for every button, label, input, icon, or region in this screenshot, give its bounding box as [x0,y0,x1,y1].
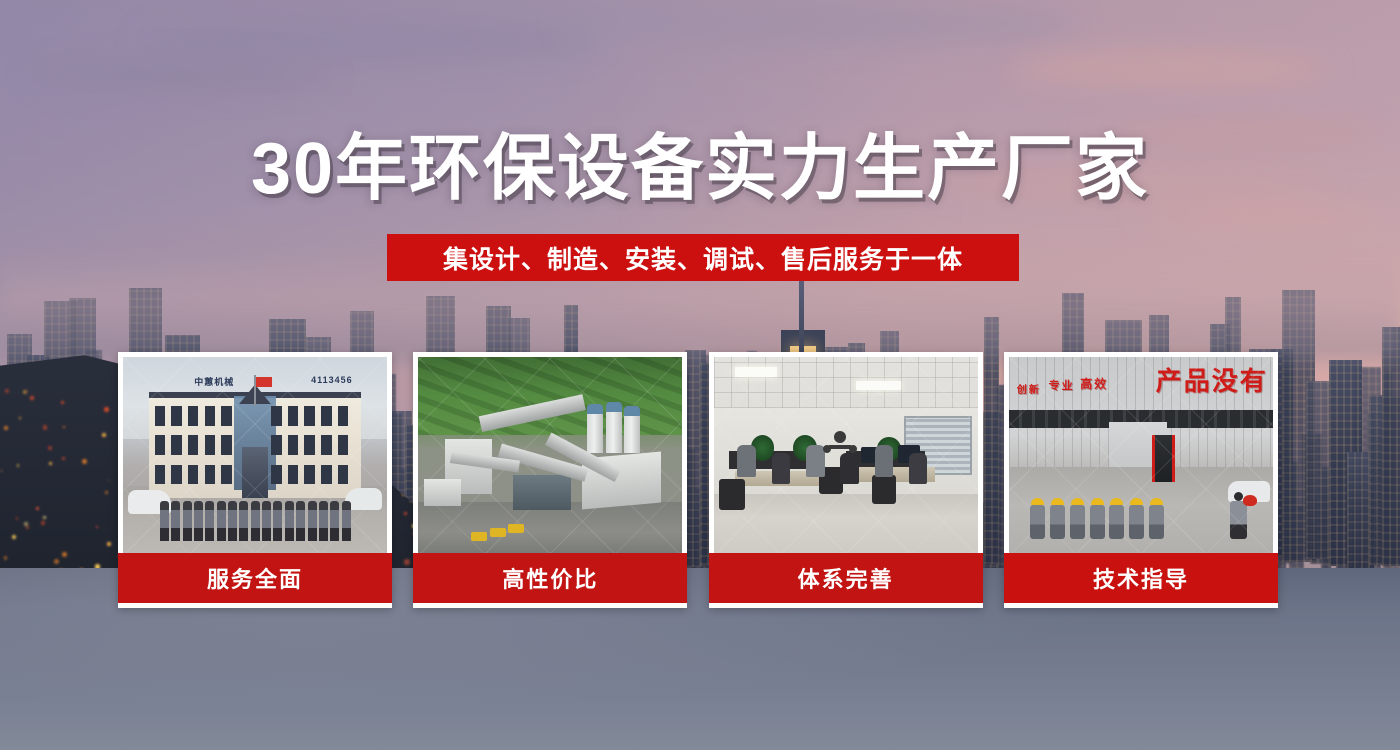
riverbank-light [43,425,47,429]
staff-figure [228,501,237,541]
card-caption: 技术指导 [1004,553,1278,603]
staff-figure [183,501,192,541]
staff-figure [217,501,226,541]
safety-helmet-icon [1051,498,1064,505]
safety-helmet-icon [1130,498,1143,505]
riverbank-light [49,462,52,465]
staff-figure [319,501,328,541]
company-headquarters-photo: 中蕙机械 4113456 [123,357,387,553]
plant-structure [624,412,640,453]
building-window [288,465,299,485]
plant-structure [624,406,640,416]
building-window [188,465,199,485]
office-worker [909,453,927,484]
staff-figure [262,501,271,541]
aerial-factory-photo [418,357,682,553]
excavator [508,524,524,533]
worker-figure [1030,498,1045,539]
worker-figure [1090,498,1105,539]
riverbank-light [61,401,64,404]
staff-figure [194,501,203,541]
building-window [321,406,332,426]
staff-figure [160,501,169,541]
riverbank-light [16,517,19,520]
riverbank-light [30,396,34,400]
building-window [321,465,332,485]
building-window [271,435,282,455]
office-worker [772,453,790,484]
card-caption: 高性价比 [413,553,687,603]
excavator [490,528,506,537]
riverbank-light [17,464,20,467]
riverbank-light [19,417,21,419]
feature-card[interactable]: 体系完善 [709,352,983,608]
skyline-building [1382,327,1400,566]
riverbank-light [1,470,3,472]
staff-figure [308,501,317,541]
building-window [171,435,182,455]
building-window [321,435,332,455]
riverbank-light [63,426,65,428]
riverbank-light [62,457,65,460]
staff-figure [205,501,214,541]
office-furnishing [735,367,777,377]
building-window [188,435,199,455]
worker-figure [1149,498,1164,539]
riverbank-light [12,535,16,539]
office-worker [875,445,893,476]
page-title: 30年环保设备实力生产厂家 [0,133,1400,205]
factory-slogan-text: 专业 [1049,377,1075,393]
office-interior-photo [714,357,978,553]
building-window [205,435,216,455]
worker-figure [1129,498,1144,539]
riverbank-light [36,507,39,510]
building-window [288,406,299,426]
riverbank-light [4,556,8,560]
building-window [205,465,216,485]
building-window [188,406,199,426]
riverbank-light [104,407,109,412]
skyline-building [1306,381,1330,559]
building-window [338,435,349,455]
plant-structure [424,479,461,506]
safety-helmet-icon [1031,498,1044,505]
building-window [205,406,216,426]
building-phone-text: 4113456 [311,375,353,385]
building-sign-text: 中蕙机械 [194,375,234,388]
staff-figure [296,501,305,541]
office-furnishing [856,381,901,391]
worker-figure [1050,498,1065,539]
card-caption: 服务全面 [118,553,392,603]
building-window [221,406,232,426]
building-window [288,435,299,455]
office-worker [737,445,755,476]
safety-helmet-icon [1150,498,1163,505]
worker-figure [1109,498,1124,539]
building-window [304,435,315,455]
subtitle-bar: 集设计、制造、安装、调试、售后服务于一体 [387,234,1019,281]
safety-helmet-icon [1110,498,1123,505]
building-window [221,435,232,455]
subtitle-text: 集设计、制造、安装、调试、售后服务于一体 [443,240,963,276]
building-window [338,406,349,426]
riverbank-light [96,526,98,528]
factory-sign-text: 产品没有 [1156,361,1268,398]
building-window [155,465,166,485]
office-furnishing [872,475,896,504]
promo-banner: 30年环保设备实力生产厂家 集设计、制造、安装、调试、售后服务于一体 中蕙机械 … [0,0,1400,750]
building-window [171,406,182,426]
wall-decal-icon [819,424,861,458]
building-window [155,435,166,455]
riverbank-light [62,552,67,557]
office-furnishing [719,479,745,510]
feature-card[interactable]: 中蕙机械 4113456 服务全面 [118,352,392,608]
riverbank-light [43,516,46,519]
factory-slogan-text: 高效 [1080,375,1108,392]
building-window [338,465,349,485]
riverbank-light [82,459,87,464]
staff-figure [342,501,351,541]
staff-figure [330,501,339,541]
riverbank-light [48,446,52,450]
building-window [304,465,315,485]
staff-figure [285,501,294,541]
riverbank-light [23,390,27,394]
factory-slogan-text: 创新 [1017,381,1041,396]
plant-structure [587,410,603,453]
safety-helmet-icon [1091,498,1104,505]
feature-card[interactable]: 产品没有 创新 专业 高效 技术指导 [1004,352,1278,608]
staff-figure [171,501,180,541]
riverbank-light [105,491,109,495]
feature-card-row: 中蕙机械 4113456 服务全面 高性价比 [118,352,1278,608]
building-window [155,406,166,426]
riverbank-light [54,559,59,564]
building-window [171,465,182,485]
riverbank-light [26,526,29,529]
building-window [221,465,232,485]
card-caption: 体系完善 [709,553,983,603]
riverbank-light [107,542,111,546]
riverbank-light [4,426,8,430]
riverbank-light [108,480,110,482]
worker-figure [1070,498,1085,539]
staff-figure [251,501,260,541]
plant-structure [606,402,622,412]
plant-structure [587,404,603,414]
safety-helmet-icon [1071,498,1084,505]
building-window [304,406,315,426]
riverbank-light [5,389,9,393]
riverbank-light [102,433,106,437]
plant-structure [606,408,622,453]
excavator [471,532,487,541]
riverbank-light [41,521,45,525]
feature-card[interactable]: 高性价比 [413,352,687,608]
tower-spire [799,278,804,352]
staff-figure [239,501,248,541]
building-window [271,465,282,485]
staff-figure [273,501,282,541]
workers-training-photo: 产品没有 创新 专业 高效 [1009,357,1273,553]
building-window [271,406,282,426]
plant-structure [513,475,571,510]
